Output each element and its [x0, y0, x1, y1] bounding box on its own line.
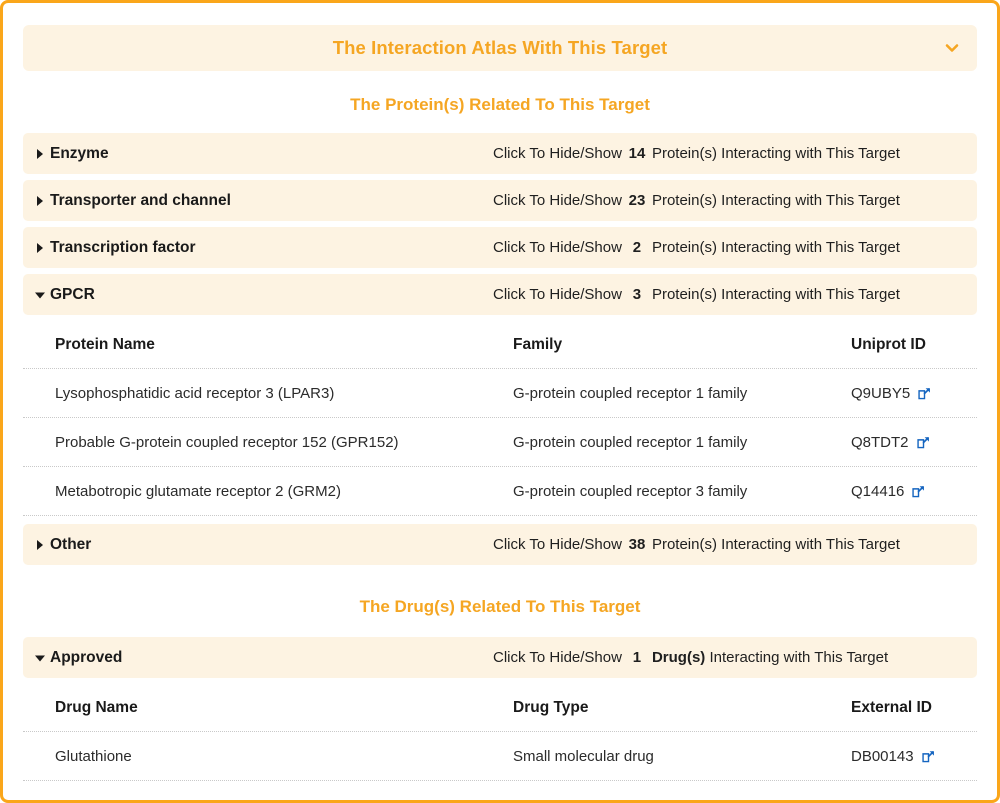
- category-label-group: Other: [23, 536, 363, 554]
- uniprot-id-value: Q9UBY5: [851, 385, 910, 402]
- cell-external-id: DB00143: [851, 748, 967, 765]
- triangle-right-icon[interactable]: [33, 147, 47, 161]
- category-name: GPCR: [50, 286, 95, 304]
- triangle-down-icon[interactable]: [33, 288, 47, 302]
- category-name: Enzyme: [50, 145, 109, 163]
- category-suffix: Protein(s) Interacting with This Target: [652, 145, 900, 162]
- category-row-transporter-and-channel[interactable]: Transporter and channel Click To Hide/Sh…: [23, 180, 977, 221]
- cell-family: G-protein coupled receptor 3 family: [513, 483, 851, 500]
- toggle-hint: Click To Hide/Show: [493, 192, 622, 209]
- category-summary: Click To Hide/Show 1 Drug(s) Interacting…: [493, 649, 967, 666]
- external-link-icon[interactable]: [917, 386, 932, 401]
- category-suffix-pre: Protein(s): [652, 286, 717, 303]
- external-link-icon[interactable]: [916, 435, 931, 450]
- cell-drug-type: Small molecular drug: [513, 748, 851, 765]
- toggle-hint: Click To Hide/Show: [493, 286, 622, 303]
- triangle-right-icon[interactable]: [33, 194, 47, 208]
- category-summary: Click To Hide/Show 38 Protein(s) Interac…: [493, 536, 967, 553]
- proteins-section-heading: The Protein(s) Related To This Target: [23, 71, 977, 133]
- cell-protein-name: Probable G-protein coupled receptor 152 …: [33, 434, 513, 451]
- uniprot-id-value: Q8TDT2: [851, 434, 909, 451]
- category-count: 38: [622, 536, 652, 553]
- triangle-right-icon[interactable]: [33, 241, 47, 255]
- category-suffix-pre: Drug(s): [652, 649, 705, 666]
- chevron-down-icon[interactable]: [943, 39, 961, 57]
- cell-uniprot-id: Q9UBY5: [851, 385, 967, 402]
- category-suffix: Protein(s) Interacting with This Target: [652, 286, 900, 303]
- category-summary: Click To Hide/Show 2 Protein(s) Interact…: [493, 239, 967, 256]
- category-suffix: Protein(s) Interacting with This Target: [652, 239, 900, 256]
- category-row-approved[interactable]: Approved Click To Hide/Show 1 Drug(s) In…: [23, 637, 977, 678]
- triangle-down-icon[interactable]: [33, 651, 47, 665]
- column-header-drug-name: Drug Name: [33, 699, 513, 717]
- cell-drug-name: Glutathione: [33, 748, 513, 765]
- toggle-hint: Click To Hide/Show: [493, 145, 622, 162]
- category-suffix-pre: Protein(s): [652, 239, 717, 256]
- uniprot-id-value: Q14416: [851, 483, 904, 500]
- triangle-right-icon[interactable]: [33, 538, 47, 552]
- external-link-icon[interactable]: [921, 749, 936, 764]
- category-count: 2: [622, 239, 652, 256]
- category-label-group: GPCR: [23, 286, 363, 304]
- category-row-gpcr[interactable]: GPCR Click To Hide/Show 3 Protein(s) Int…: [23, 274, 977, 315]
- cell-family: G-protein coupled receptor 1 family: [513, 434, 851, 451]
- category-row-enzyme[interactable]: Enzyme Click To Hide/Show 14 Protein(s) …: [23, 133, 977, 174]
- category-suffix-pre: Protein(s): [652, 145, 717, 162]
- cell-family: G-protein coupled receptor 1 family: [513, 385, 851, 402]
- category-count: 23: [622, 192, 652, 209]
- drug-table: Drug Name Drug Type External ID Glutathi…: [23, 684, 977, 783]
- category-summary: Click To Hide/Show 3 Protein(s) Interact…: [493, 286, 967, 303]
- table-row: Probable G-protein coupled receptor 152 …: [23, 418, 977, 467]
- table-row: Lysophosphatidic acid receptor 3 (LPAR3)…: [23, 369, 977, 418]
- category-suffix-pre: Protein(s): [652, 536, 717, 553]
- category-suffix: Protein(s) Interacting with This Target: [652, 192, 900, 209]
- table-header-row: Drug Name Drug Type External ID: [23, 684, 977, 732]
- category-name: Transporter and channel: [50, 192, 231, 210]
- category-suffix-post: Interacting with This Target: [721, 192, 900, 209]
- category-suffix: Drug(s) Interacting with This Target: [652, 649, 888, 666]
- category-name: Approved: [50, 649, 122, 667]
- category-label-group: Enzyme: [23, 145, 363, 163]
- drugs-section-heading: The Drug(s) Related To This Target: [23, 571, 977, 637]
- toggle-hint: Click To Hide/Show: [493, 239, 622, 256]
- category-count: 3: [622, 286, 652, 303]
- category-suffix-pre: Protein(s): [652, 192, 717, 209]
- category-summary: Click To Hide/Show 23 Protein(s) Interac…: [493, 192, 967, 209]
- protein-table: Protein Name Family Uniprot ID Lysophosp…: [23, 321, 977, 518]
- column-header-drug-type: Drug Type: [513, 699, 851, 717]
- toggle-hint: Click To Hide/Show: [493, 649, 622, 666]
- category-name: Transcription factor: [50, 239, 196, 257]
- column-header-uniprot-id: Uniprot ID: [851, 336, 967, 354]
- cell-protein-name: Metabotropic glutamate receptor 2 (GRM2): [33, 483, 513, 500]
- page-title: The Interaction Atlas With This Target: [333, 37, 668, 59]
- category-suffix-post: Interacting with This Target: [709, 649, 888, 666]
- toggle-hint: Click To Hide/Show: [493, 536, 622, 553]
- category-label-group: Transporter and channel: [23, 192, 363, 210]
- table-row: Metabotropic glutamate receptor 2 (GRM2)…: [23, 467, 977, 516]
- column-header-external-id: External ID: [851, 699, 967, 717]
- category-label-group: Approved: [23, 649, 363, 667]
- category-suffix-post: Interacting with This Target: [721, 536, 900, 553]
- cell-protein-name: Lysophosphatidic acid receptor 3 (LPAR3): [33, 385, 513, 402]
- table-header-row: Protein Name Family Uniprot ID: [23, 321, 977, 369]
- category-name: Other: [50, 536, 91, 554]
- category-count: 14: [622, 145, 652, 162]
- column-header-protein-name: Protein Name: [33, 336, 513, 354]
- category-row-other[interactable]: Other Click To Hide/Show 38 Protein(s) I…: [23, 524, 977, 565]
- cell-uniprot-id: Q8TDT2: [851, 434, 967, 451]
- category-count: 1: [622, 649, 652, 666]
- category-summary: Click To Hide/Show 14 Protein(s) Interac…: [493, 145, 967, 162]
- category-row-transcription-factor[interactable]: Transcription factor Click To Hide/Show …: [23, 227, 977, 268]
- category-suffix: Protein(s) Interacting with This Target: [652, 536, 900, 553]
- external-link-icon[interactable]: [911, 484, 926, 499]
- external-id-value: DB00143: [851, 748, 914, 765]
- atlas-header-toggle[interactable]: The Interaction Atlas With This Target: [23, 25, 977, 71]
- category-suffix-post: Interacting with This Target: [721, 239, 900, 256]
- category-suffix-post: Interacting with This Target: [721, 145, 900, 162]
- cell-uniprot-id: Q14416: [851, 483, 967, 500]
- column-header-family: Family: [513, 336, 851, 354]
- interaction-atlas-panel: The Interaction Atlas With This Target T…: [0, 0, 1000, 803]
- category-label-group: Transcription factor: [23, 239, 363, 257]
- category-suffix-post: Interacting with This Target: [721, 286, 900, 303]
- table-row: Glutathione Small molecular drug DB00143: [23, 732, 977, 781]
